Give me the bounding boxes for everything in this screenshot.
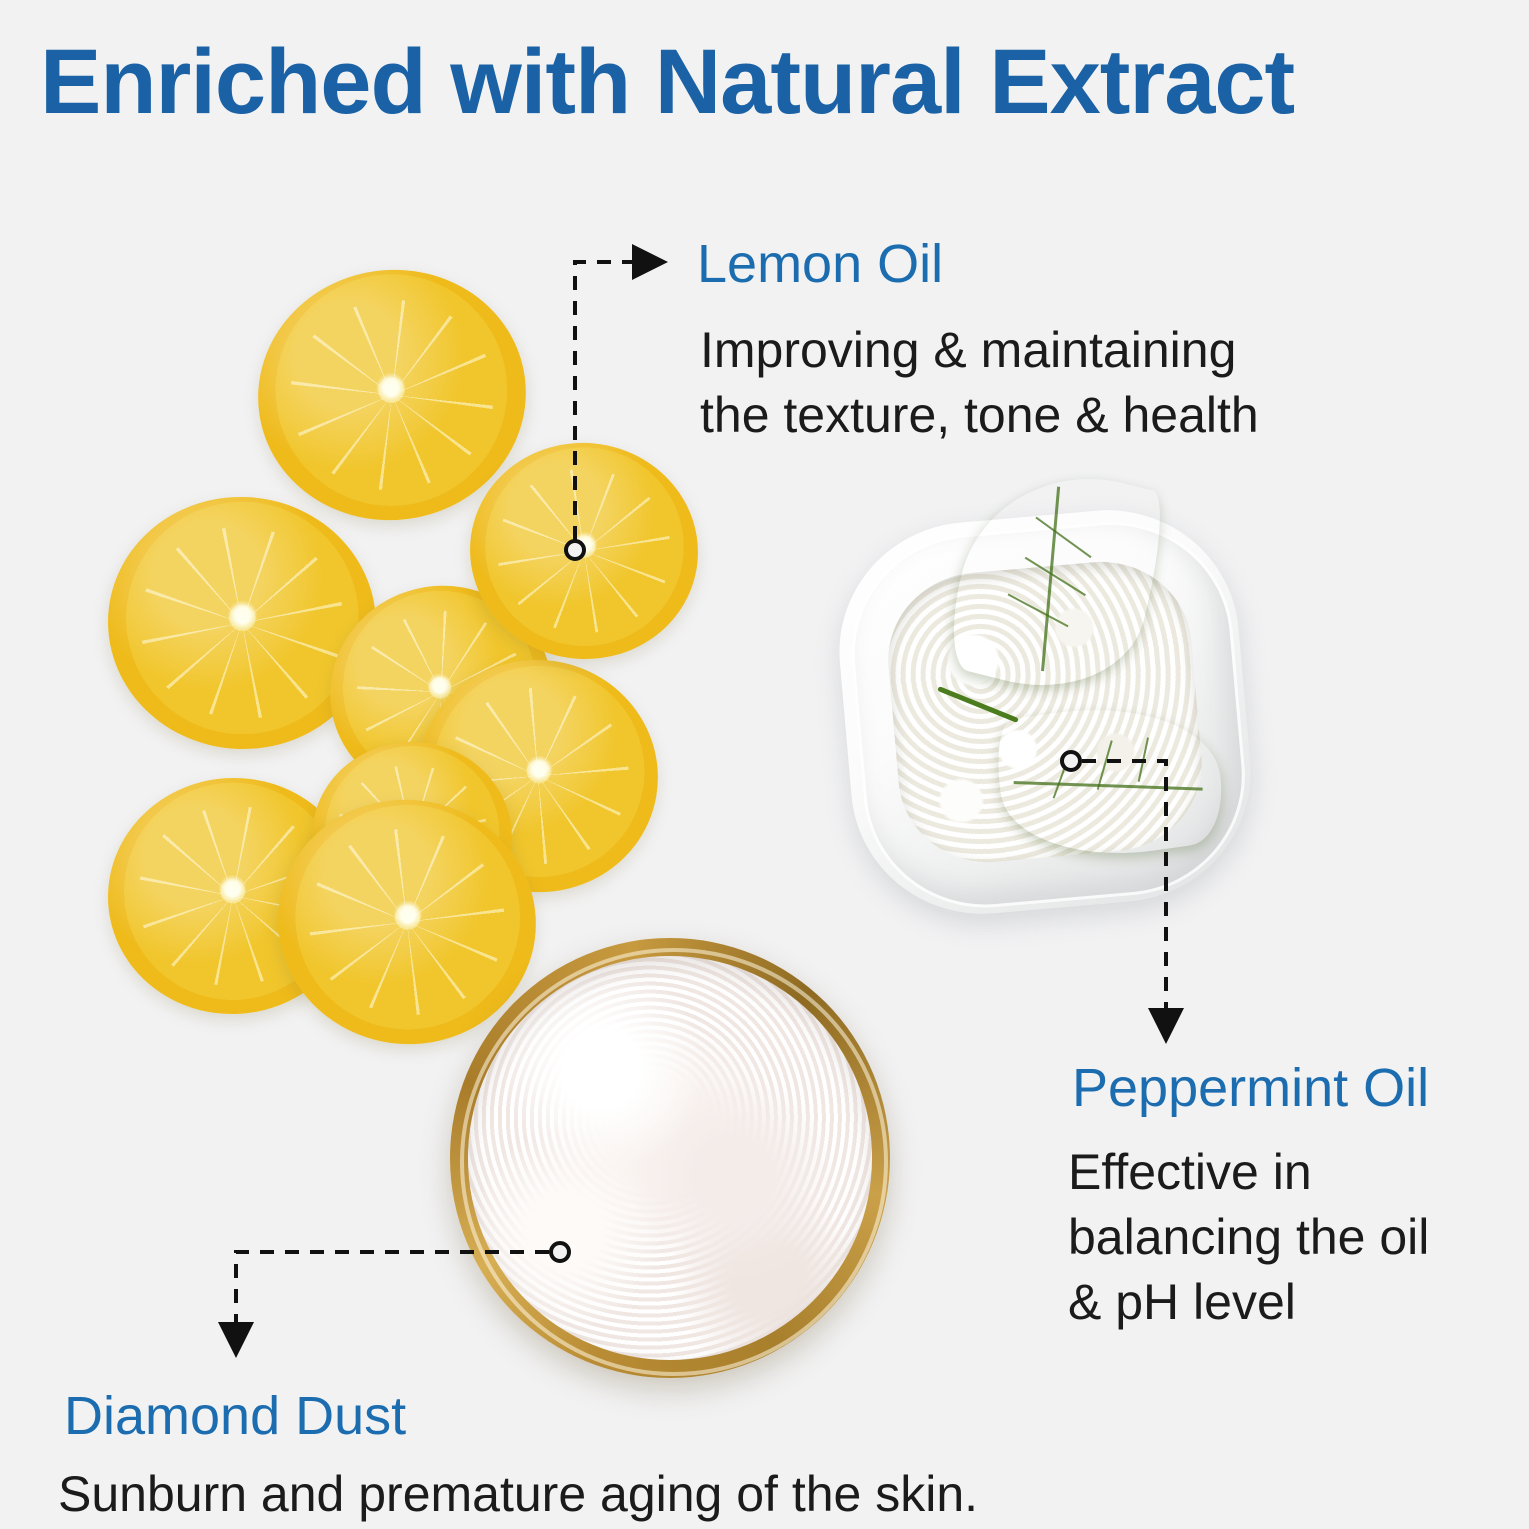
infographic-canvas: Enriched with Natural Extract Lemon Oil … — [0, 0, 1529, 1529]
callout-body-line: balancing the oil — [1068, 1205, 1529, 1270]
callout-body-line: Improving & maintaining — [700, 318, 1420, 383]
callout-body-line: the texture, tone & health — [700, 383, 1420, 448]
page-title: Enriched with Natural Extract — [40, 36, 1294, 128]
callout-body-peppermint-oil: Effective in balancing the oil & pH leve… — [1068, 1140, 1529, 1335]
leaf-vein — [1138, 737, 1149, 781]
callout-body-line: Effective in — [1068, 1140, 1529, 1205]
leaf-vein — [1096, 740, 1112, 790]
leaf-midrib — [1014, 781, 1203, 791]
callout-heading-peppermint-oil: Peppermint Oil — [1072, 1060, 1429, 1117]
callout-body-line: & pH level — [1068, 1270, 1529, 1335]
leaf-vein — [1052, 753, 1070, 799]
leaf-vein — [1025, 556, 1087, 596]
leaf-vein — [1007, 593, 1068, 627]
callout-heading-lemon-oil: Lemon Oil — [697, 236, 943, 293]
bowl-rim-highlight — [460, 948, 889, 1377]
callout-body-diamond-dust: Sunburn and premature aging of the skin. — [58, 1462, 1158, 1527]
leaf-vein — [1036, 517, 1092, 558]
callout-body-lemon-oil: Improving & maintaining the texture, ton… — [700, 318, 1420, 448]
powder-bowl — [450, 938, 890, 1378]
callout-heading-diamond-dust: Diamond Dust — [64, 1388, 406, 1445]
callout-body-line: Sunburn and premature aging of the skin. — [58, 1462, 1158, 1527]
